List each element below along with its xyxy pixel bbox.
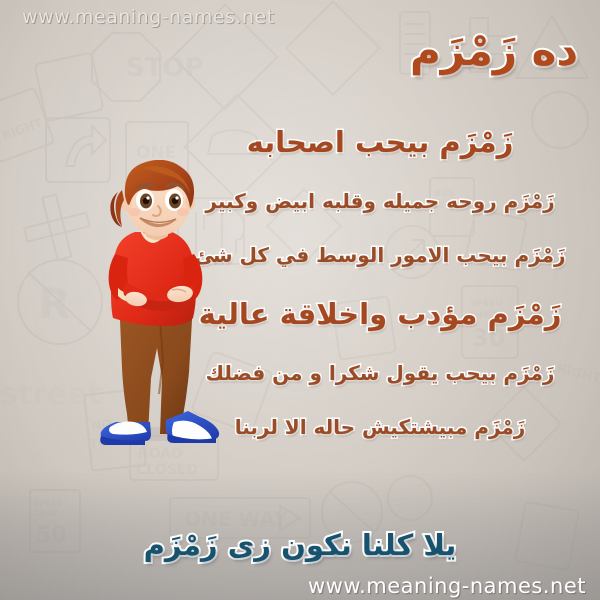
- page-title: ده زَمْزَم: [410, 28, 578, 74]
- poster-canvas: STOP ONE WAY R NO PARKING ANY TIME SPEED…: [0, 0, 600, 600]
- footer-message: يلا كلنا نكون زى زَمْزَم: [0, 528, 600, 562]
- svg-text:STOP: STOP: [126, 53, 204, 83]
- watermark-bottom: www.meaning-names.net: [308, 574, 586, 598]
- svg-text:R: R: [38, 279, 70, 328]
- svg-text:ROAD: ROAD: [138, 446, 183, 462]
- watermark-top: www.meaning-names.net: [22, 6, 275, 28]
- svg-text:RIGHT: RIGHT: [0, 115, 45, 143]
- boy-illustration: [82, 160, 242, 445]
